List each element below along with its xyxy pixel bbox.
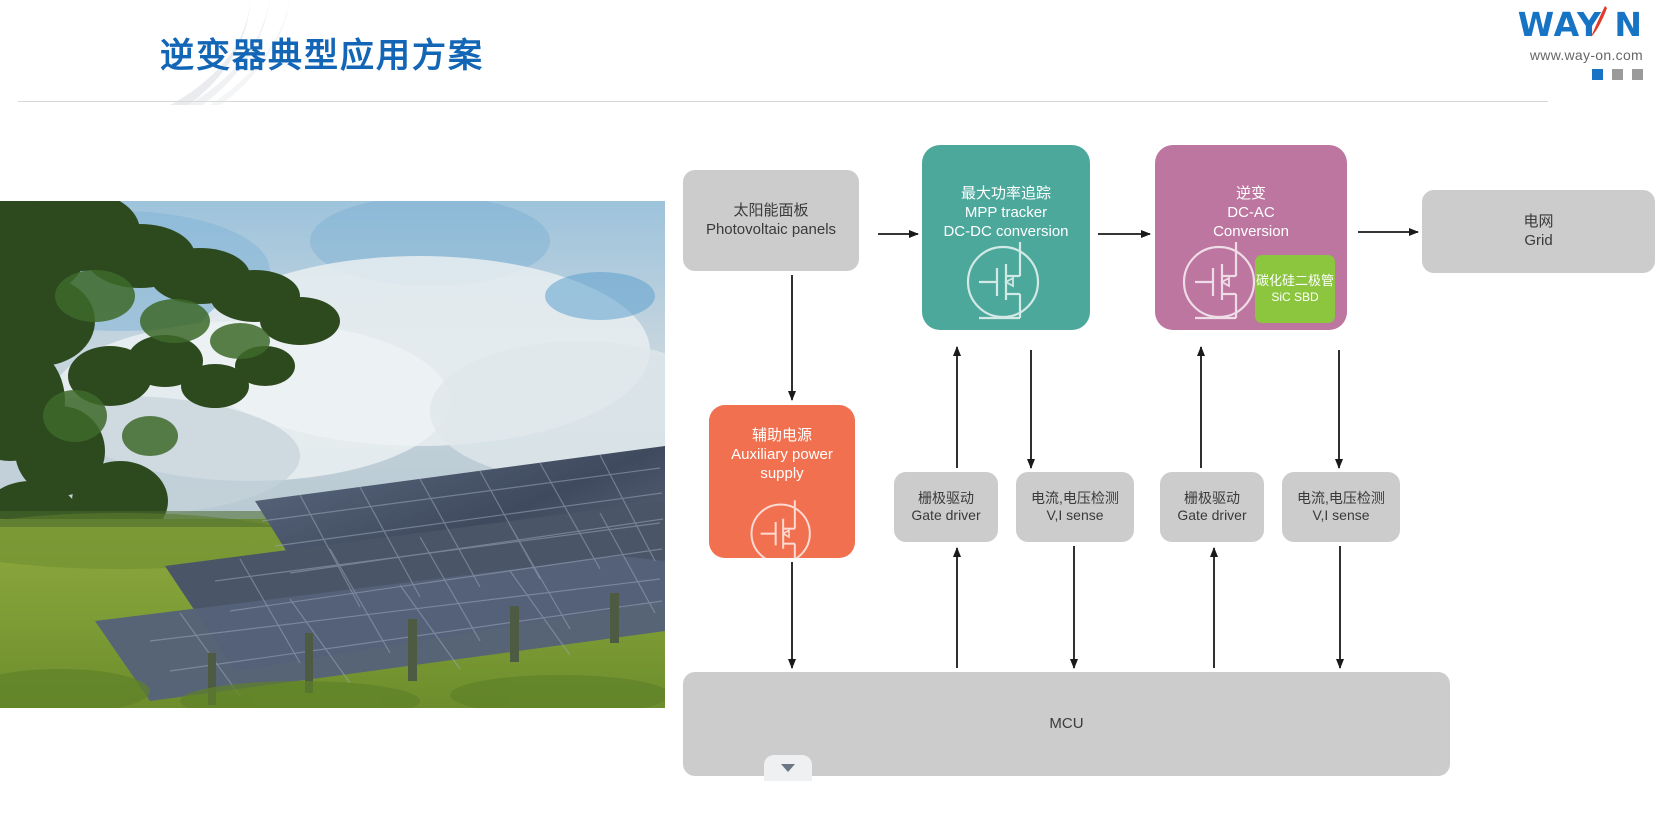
node-dc-ac-conversion-en: DC-AC: [1227, 204, 1275, 223]
badge-sic-sbd-en: SiC SBD: [1271, 291, 1318, 305]
node-vi-sense-1[interactable]: 电流,电压检测 V,I sense: [1016, 472, 1134, 542]
node-vi-sense-1-en: V,I sense: [1046, 507, 1103, 525]
scroll-down-button[interactable]: [764, 755, 812, 781]
solar-farm-photo-graphic: [0, 201, 665, 708]
node-mpp-tracker[interactable]: 最大功率追踪 MPP tracker DC-DC conversion: [922, 145, 1090, 330]
node-photovoltaic-panels[interactable]: 太阳能面板 Photovoltaic panels: [683, 170, 859, 271]
company-logo: WAY N www.way-on.com: [1467, 8, 1643, 80]
logo-square-marks: [1467, 69, 1643, 80]
node-dc-ac-conversion-cn: 逆变: [1236, 185, 1266, 204]
node-grid-en: Grid: [1524, 232, 1552, 251]
node-gate-driver-2-en: Gate driver: [1177, 507, 1246, 525]
node-grid-cn: 电网: [1523, 213, 1553, 232]
node-auxiliary-power-supply[interactable]: 辅助电源 Auxiliary power supply: [709, 405, 855, 558]
logo-wordmark-text: WAY N: [1518, 5, 1643, 44]
logo-square-1: [1592, 69, 1603, 80]
badge-sic-sbd[interactable]: 碳化硅二极管 SiC SBD: [1255, 255, 1335, 323]
node-dc-ac-conversion[interactable]: 逆变 DC-AC Conversion 碳化硅二极管 SiC SBD: [1155, 145, 1347, 330]
node-mcu-label: MCU: [1049, 715, 1083, 734]
mosfet-symbol-icon: [963, 238, 1051, 322]
page-title: 逆变器典型应用方案: [160, 28, 484, 77]
logo-square-2: [1612, 69, 1623, 80]
mosfet-symbol-icon: [747, 497, 821, 567]
chevron-down-icon: [780, 763, 796, 773]
node-auxiliary-power-supply-cn: 辅助电源: [752, 427, 812, 446]
node-gate-driver-1[interactable]: 栅极驱动 Gate driver: [894, 472, 998, 542]
node-gate-driver-1-en: Gate driver: [911, 507, 980, 525]
header-divider: [18, 101, 1548, 102]
logo-accent-swoosh-icon: [1589, 5, 1609, 39]
logo-square-3: [1632, 69, 1643, 80]
node-photovoltaic-panels-en: Photovoltaic panels: [706, 221, 836, 240]
node-gate-driver-1-cn: 栅极驱动: [918, 490, 974, 508]
mosfet-symbol-icon: [1179, 238, 1267, 322]
node-vi-sense-2[interactable]: 电流,电压检测 V,I sense: [1282, 472, 1400, 542]
node-vi-sense-2-en: V,I sense: [1312, 507, 1369, 525]
node-vi-sense-2-cn: 电流,电压检测: [1297, 490, 1385, 508]
logo-wordmark: WAY N: [1518, 8, 1643, 41]
node-photovoltaic-panels-cn: 太阳能面板: [733, 202, 808, 221]
solar-farm-photo: [0, 201, 665, 708]
badge-sic-sbd-cn: 碳化硅二极管: [1256, 274, 1334, 289]
node-gate-driver-2-cn: 栅极驱动: [1184, 490, 1240, 508]
node-mpp-tracker-cn: 最大功率追踪: [961, 185, 1051, 204]
node-grid[interactable]: 电网 Grid: [1422, 190, 1655, 273]
node-mpp-tracker-en: MPP tracker: [965, 204, 1047, 223]
logo-website-url: www.way-on.com: [1467, 47, 1643, 63]
node-auxiliary-power-supply-en: Auxiliary power: [731, 446, 833, 465]
node-vi-sense-1-cn: 电流,电压检测: [1031, 490, 1119, 508]
node-gate-driver-2[interactable]: 栅极驱动 Gate driver: [1160, 472, 1264, 542]
node-auxiliary-power-supply-en2: supply: [760, 465, 803, 484]
